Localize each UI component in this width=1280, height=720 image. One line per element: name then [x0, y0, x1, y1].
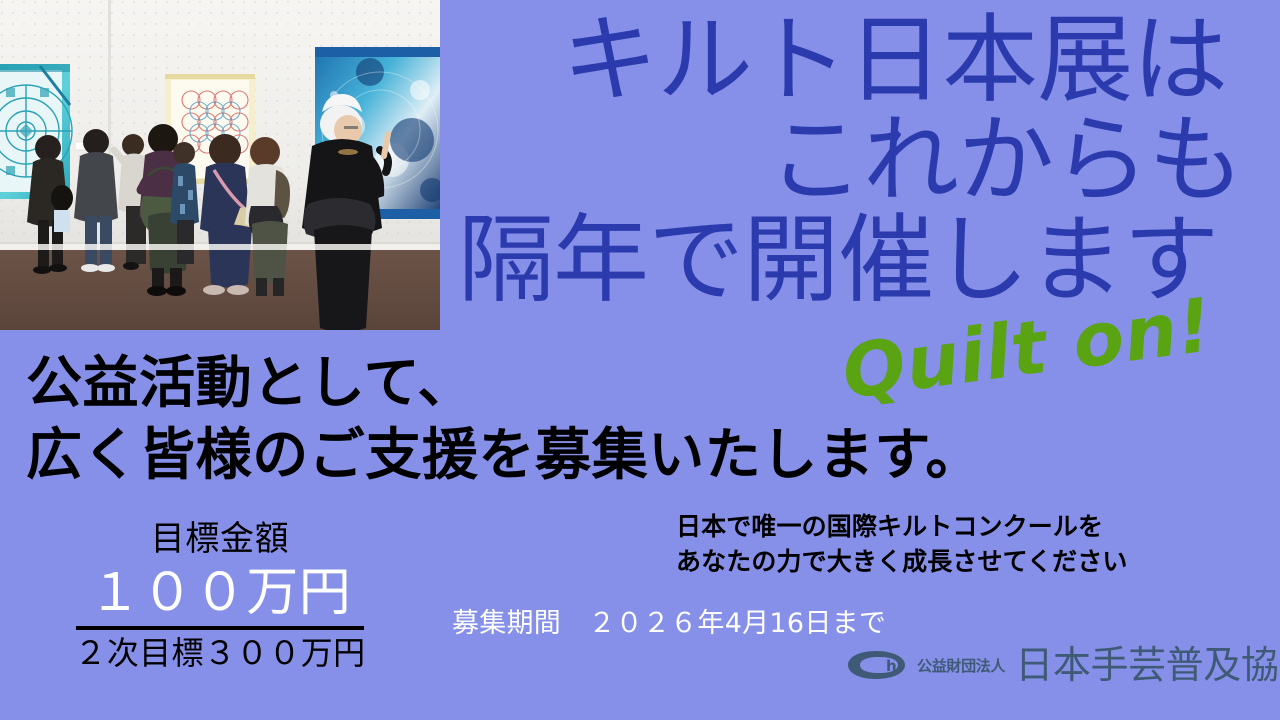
- campaign-period: 募集期間 ２０２６年4月16日まで: [452, 610, 886, 637]
- mark-letter: h: [886, 657, 897, 675]
- goal-secondary-target: ２次目標３００万円: [0, 634, 440, 672]
- poster-canvas: キルト日本展は これからも 隔年で開催します Quilt on! 公益活動として…: [0, 0, 1280, 720]
- goal-label: 目標金額: [0, 520, 440, 559]
- body-copy-line-2: 広く皆様のご支援を募集いたします。: [26, 428, 982, 484]
- organization-kind: 公益財団法人: [917, 655, 1005, 676]
- headline-line-2: これからも: [768, 112, 1243, 208]
- funding-goal-block: 目標金額 １００万円 ２次目標３００万円: [0, 520, 440, 672]
- organization-logo: h 公益財団法人 日本手芸普及協会: [846, 646, 1280, 684]
- headline-line-1: キルト日本展は: [562, 12, 1227, 108]
- pitch-line-1: 日本で唯一の国際キルトコンクールを: [676, 510, 1128, 545]
- body-copy-line-1: 公益活動として、: [26, 356, 474, 412]
- goal-amount: １００万円: [0, 561, 440, 626]
- goal-divider: [76, 626, 364, 630]
- pitch-text: 日本で唯一の国際キルトコンクールを あなたの力で大きく成長させてください: [676, 510, 1128, 579]
- headline-line-3: 隔年で開催します: [458, 212, 1218, 308]
- pitch-line-2: あなたの力で大きく成長させてください: [676, 545, 1128, 580]
- exhibition-photo: [0, 0, 440, 330]
- association-mark-icon: h: [846, 650, 908, 680]
- organization-name: 日本手芸普及協会: [1015, 646, 1280, 684]
